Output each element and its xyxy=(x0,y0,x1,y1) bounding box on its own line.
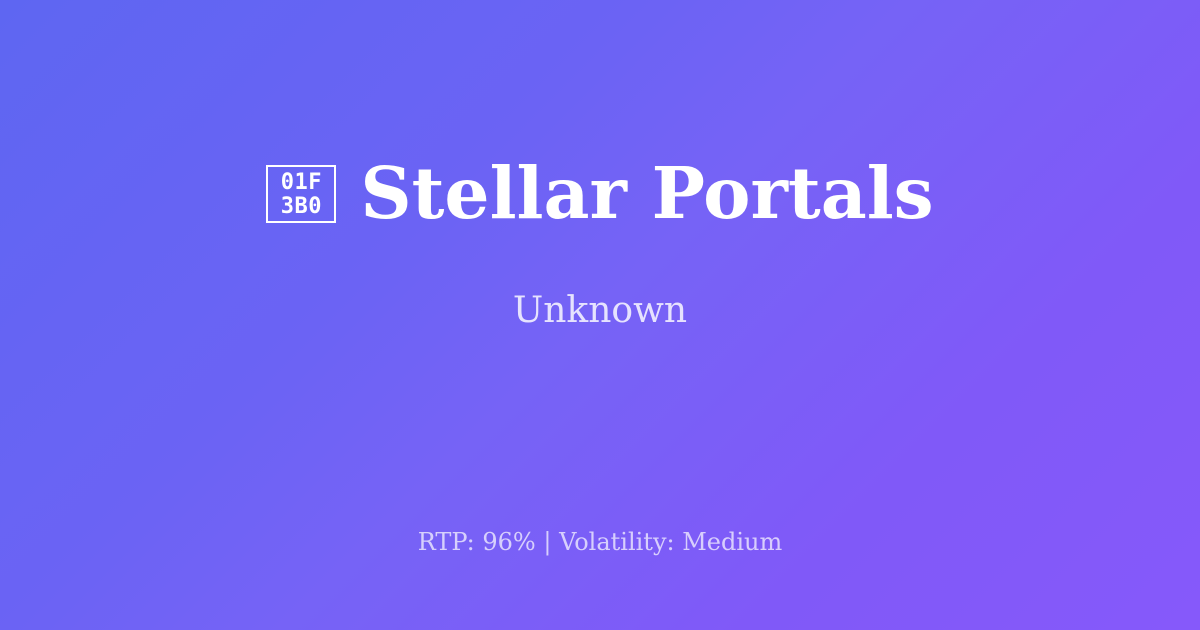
game-stats-line: RTP: 96% | Volatility: Medium xyxy=(0,528,1200,556)
tofu-codepoint-bottom: 3B0 xyxy=(281,195,322,219)
game-provider-subtitle: Unknown xyxy=(513,289,687,332)
title-row: 01F 3B0 Stellar Portals xyxy=(40,157,1160,231)
hero-block: 01F 3B0 Stellar Portals Unknown xyxy=(0,0,1200,490)
slot-machine-icon: 01F 3B0 xyxy=(266,165,336,223)
game-preview-card: 01F 3B0 Stellar Portals Unknown RTP: 96%… xyxy=(0,0,1200,630)
tofu-codepoint-top: 01F xyxy=(281,171,322,195)
page-title: Stellar Portals xyxy=(360,157,933,231)
